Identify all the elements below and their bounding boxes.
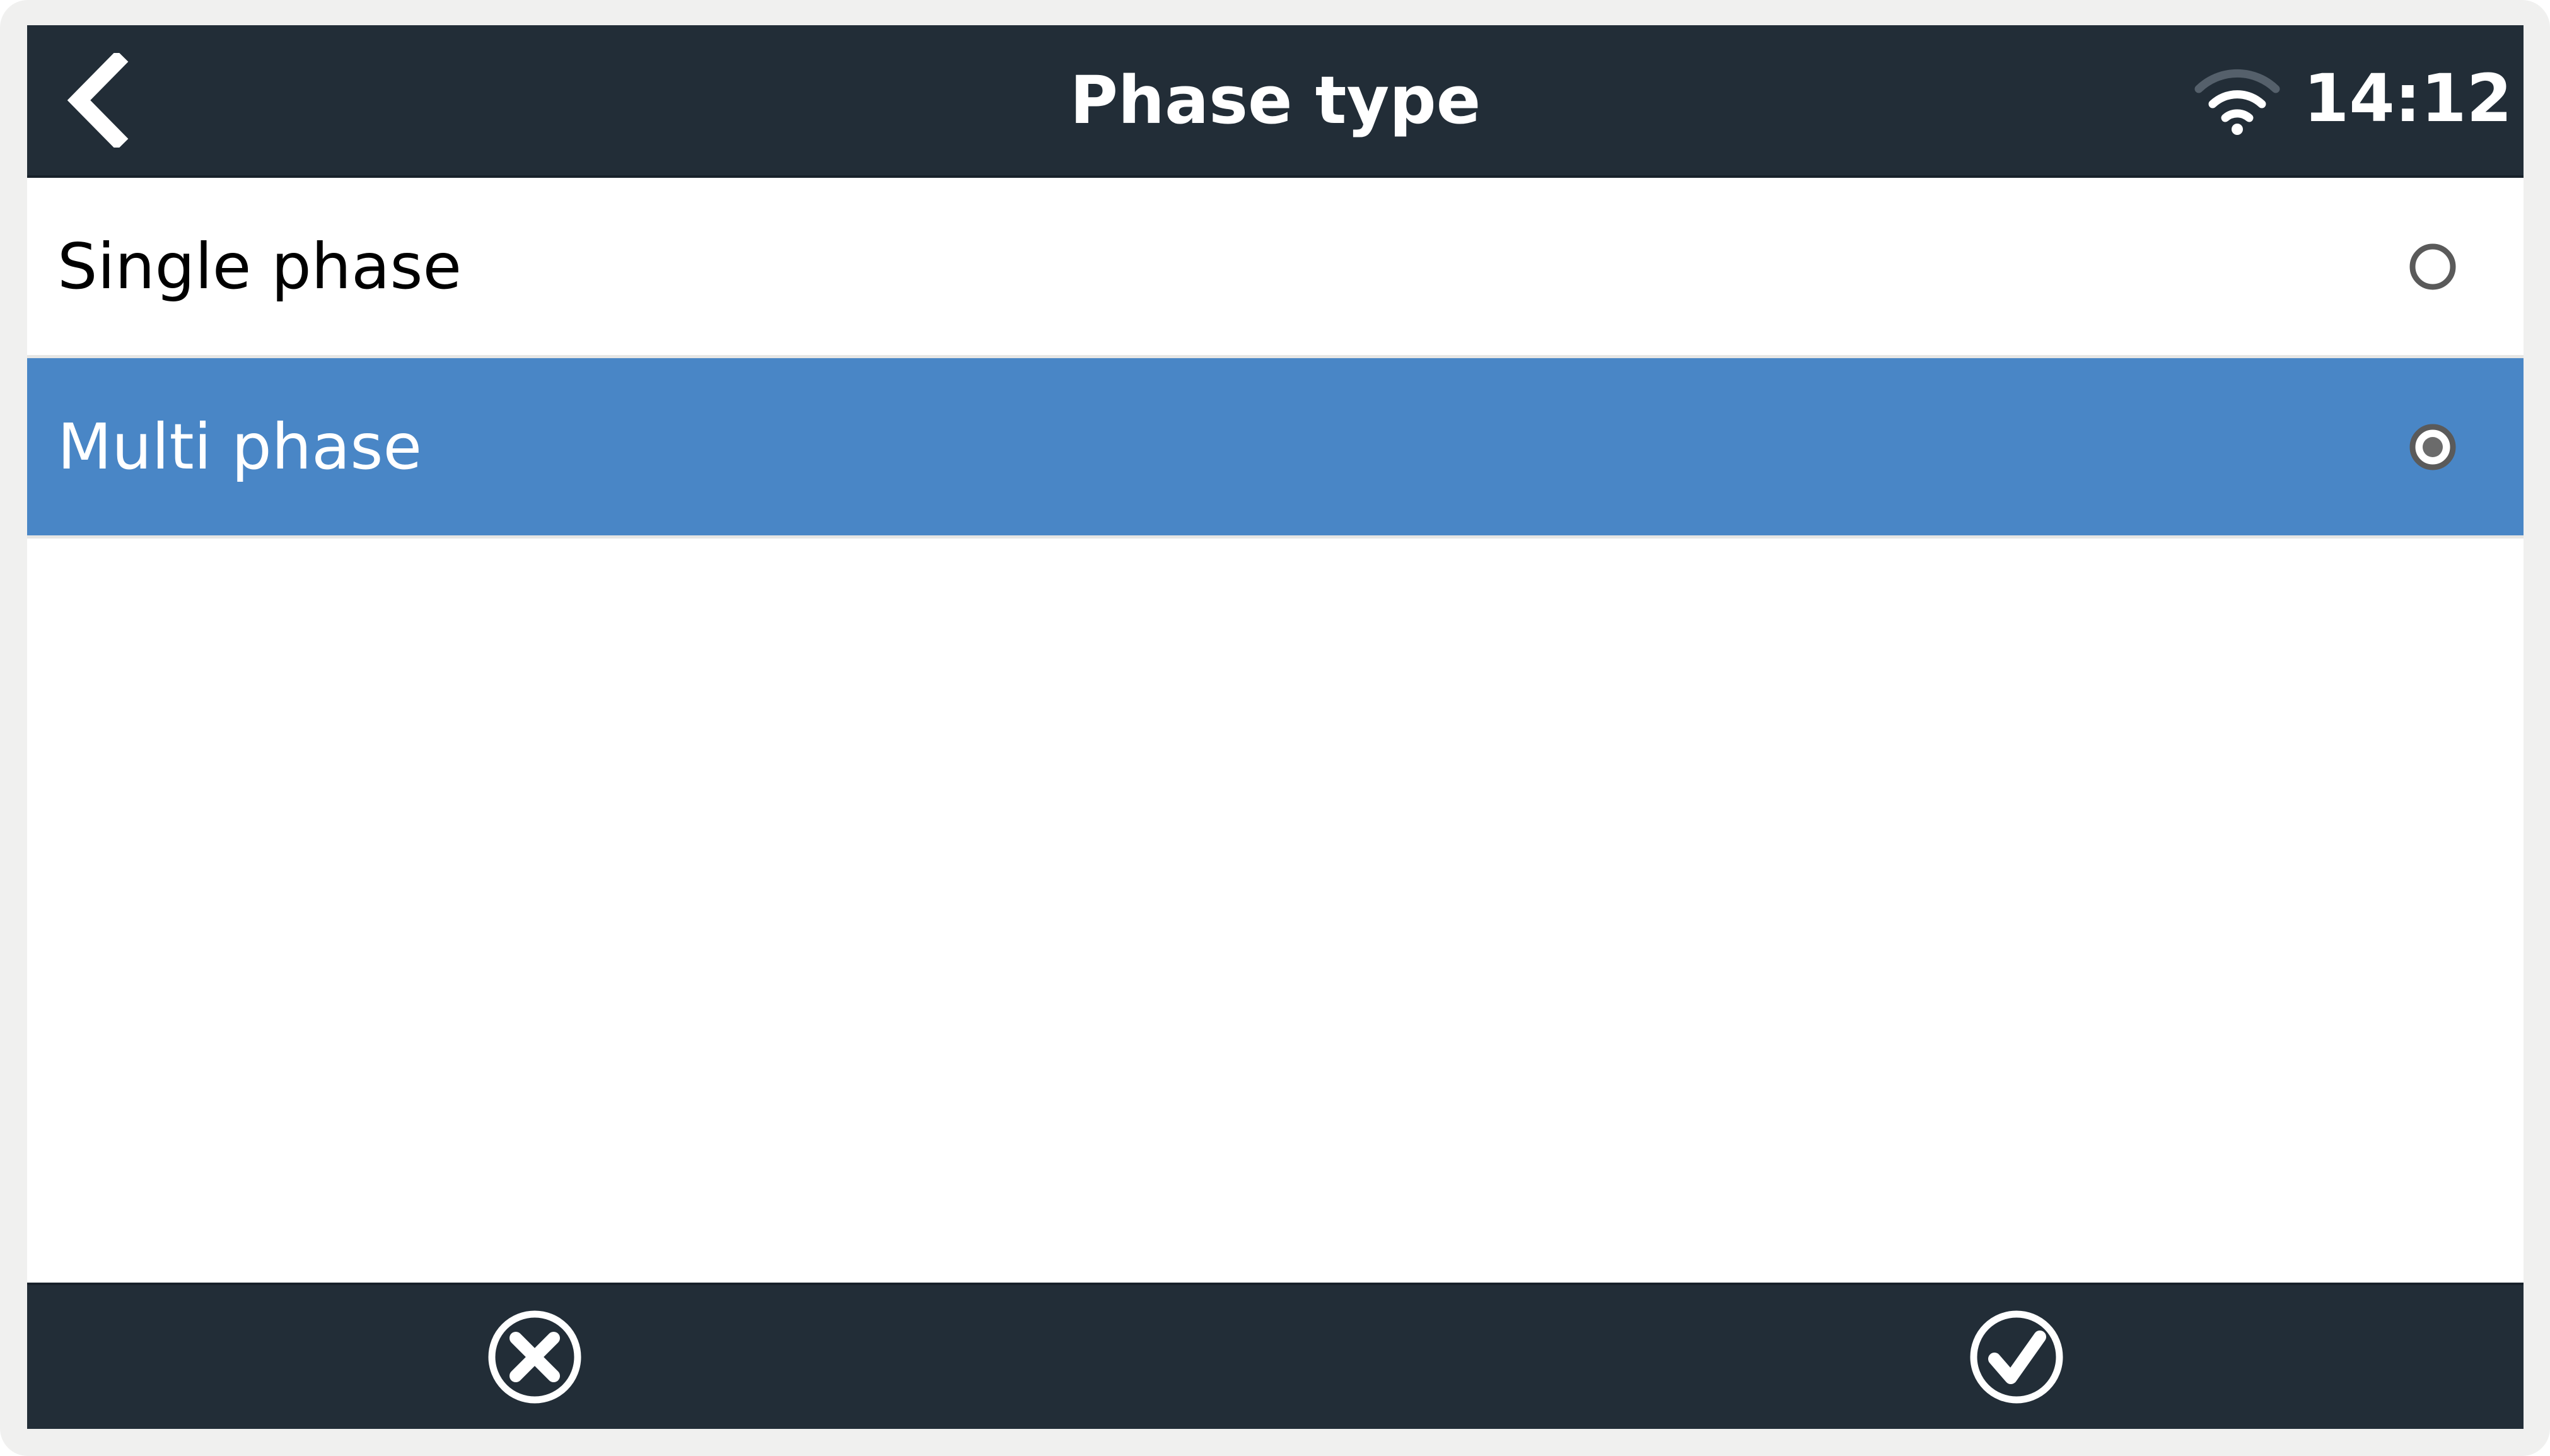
wifi-icon xyxy=(2190,61,2285,139)
circle-check-icon xyxy=(1966,1307,2067,1407)
screen: Phase type 14:12 Single phase xyxy=(27,25,2524,1429)
page-title: Phase type xyxy=(27,25,2524,175)
list-item-label: Multi phase xyxy=(57,416,422,479)
list-item-label: Single phase xyxy=(57,235,462,298)
options-list: Single phase Multi phase xyxy=(27,178,2524,1283)
confirm-button[interactable] xyxy=(1922,1285,2111,1429)
cancel-button[interactable] xyxy=(440,1285,629,1429)
status-cluster: 14:12 xyxy=(2190,25,2512,175)
list-item-single-phase[interactable]: Single phase xyxy=(27,178,2524,358)
radio-checked-icon[interactable] xyxy=(2408,422,2457,472)
circle-x-icon xyxy=(484,1307,585,1407)
clock: 14:12 xyxy=(2303,66,2512,135)
radio-unchecked-icon[interactable] xyxy=(2408,242,2457,291)
header-bar: Phase type 14:12 xyxy=(27,25,2524,178)
device-frame: Phase type 14:12 Single phase xyxy=(0,0,2550,1456)
footer-bar xyxy=(27,1283,2524,1429)
list-item-multi-phase[interactable]: Multi phase xyxy=(27,358,2524,539)
